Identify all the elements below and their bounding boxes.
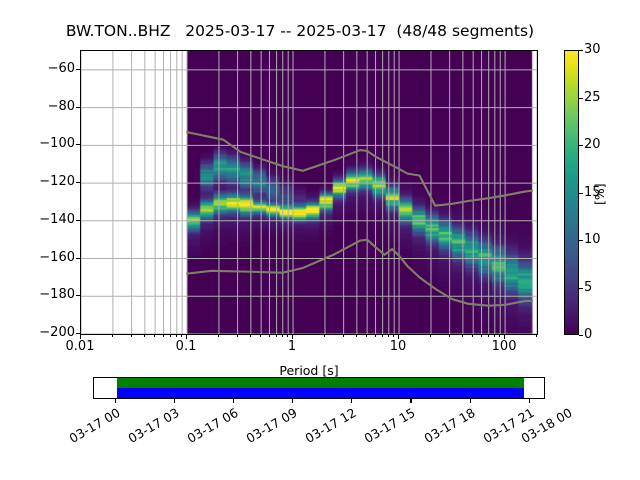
timeline-tick-mark	[470, 399, 471, 403]
x-tick-mark-minor	[343, 335, 344, 337]
timeline-tick-mark	[351, 399, 352, 403]
y-tick-mark	[76, 333, 80, 334]
colorbar-tick-mark	[579, 50, 583, 51]
x-tick-label: 0.01	[45, 339, 115, 354]
timeline-tick-mark	[410, 399, 411, 403]
colorbar-tick-label: 10	[584, 232, 601, 247]
x-tick-mark-minor	[472, 335, 473, 337]
timeline-tick-label: 03-17 12	[303, 405, 359, 446]
y-tick-mark	[76, 144, 80, 145]
timeline-bar-green	[117, 378, 524, 388]
x-tick-mark-minor	[366, 335, 367, 337]
x-tick-label: 10	[363, 339, 433, 354]
x-tick-mark-minor	[356, 335, 357, 337]
colorbar-tick-mark	[579, 98, 583, 99]
x-tick-mark-minor	[250, 335, 251, 337]
y-tick-mark	[76, 295, 80, 296]
x-tick-label: 0.1	[151, 339, 221, 354]
noise-model-curves	[81, 51, 537, 334]
timeline-tick-label: 03-17 03	[125, 405, 181, 446]
timeline-tick-mark	[115, 399, 116, 403]
colorbar-tick-label: 0	[584, 327, 592, 342]
colorbar-tick-mark	[579, 145, 583, 146]
x-tick-mark-minor	[494, 335, 495, 337]
x-tick-mark-minor	[269, 335, 270, 337]
y-tick-mark	[76, 220, 80, 221]
timeline-tick-mark	[529, 399, 530, 403]
x-tick-label: 100	[469, 339, 539, 354]
y-tick-mark	[76, 69, 80, 70]
y-tick-mark	[76, 182, 80, 183]
x-tick-mark-minor	[462, 335, 463, 337]
x-tick-mark-minor	[499, 335, 500, 337]
colorbar-tick-label: 25	[584, 90, 601, 105]
x-tick-mark-minor	[388, 335, 389, 337]
timeline-tick-mark	[174, 399, 175, 403]
y-tick-label: −80	[15, 99, 75, 114]
x-tick-mark-minor	[144, 335, 145, 337]
ppsd-figure: BW.TON..BHZ 2025-03-17 -- 2025-03-17 (48…	[0, 0, 640, 480]
x-tick-mark-minor	[536, 335, 537, 337]
timeline-tick-label: 03-17 18	[421, 405, 477, 446]
x-tick-mark-minor	[449, 335, 450, 337]
y-tick-label: −60	[15, 61, 75, 76]
x-tick-mark-minor	[260, 335, 261, 337]
x-tick-mark-minor	[282, 335, 283, 337]
x-tick-label: 1	[257, 339, 327, 354]
x-tick-mark-minor	[163, 335, 164, 337]
x-tick-mark-minor	[393, 335, 394, 337]
x-tick-mark-minor	[276, 335, 277, 337]
y-tick-label: −120	[15, 174, 75, 189]
colorbar[interactable]	[564, 50, 579, 335]
y-tick-label: −200	[15, 325, 75, 340]
timeline-tick-label: 03-17 09	[244, 405, 300, 446]
colorbar-tick-label: 20	[584, 137, 601, 152]
colorbar-label: [%]	[592, 183, 607, 205]
timeline-tick-mark	[233, 399, 234, 403]
plot-title: BW.TON..BHZ 2025-03-17 -- 2025-03-17 (48…	[0, 22, 600, 40]
y-tick-label: −100	[15, 136, 75, 151]
timeline-tick-mark	[292, 399, 293, 403]
colorbar-tick-mark	[579, 240, 583, 241]
x-tick-mark-minor	[181, 335, 182, 337]
timeline-tick-label: 03-17 06	[184, 405, 240, 446]
x-tick-mark-minor	[375, 335, 376, 337]
colorbar-tick-mark	[579, 335, 583, 336]
timeline-axes[interactable]	[93, 377, 545, 399]
colorbar-tick-mark	[579, 193, 583, 194]
timeline-tick-label: 03-17 00	[66, 405, 122, 446]
ppsd-axes[interactable]	[80, 50, 538, 335]
x-tick-mark-minor	[382, 335, 383, 337]
x-tick-mark-minor	[481, 335, 482, 337]
y-tick-mark	[76, 258, 80, 259]
colorbar-tick-label: 5	[584, 280, 592, 295]
colorbar-gradient	[565, 51, 578, 334]
x-axis-label: Period [s]	[80, 363, 538, 378]
x-tick-mark-minor	[430, 335, 431, 337]
y-tick-label: −180	[15, 287, 75, 302]
x-tick-mark-minor	[154, 335, 155, 337]
x-tick-mark-minor	[112, 335, 113, 337]
colorbar-tick-mark	[579, 288, 583, 289]
timeline-tick-label: 03-17 15	[362, 405, 418, 446]
x-tick-mark-minor	[488, 335, 489, 337]
x-tick-mark-minor	[218, 335, 219, 337]
x-tick-mark-minor	[324, 335, 325, 337]
x-tick-mark-minor	[131, 335, 132, 337]
y-tick-label: −160	[15, 250, 75, 265]
x-tick-mark-minor	[237, 335, 238, 337]
timeline-bar-blue	[117, 388, 524, 398]
y-tick-mark	[76, 107, 80, 108]
y-tick-label: −140	[15, 212, 75, 227]
x-tick-mark-minor	[287, 335, 288, 337]
x-tick-mark-minor	[170, 335, 171, 337]
x-tick-mark-minor	[176, 335, 177, 337]
colorbar-tick-label: 30	[584, 42, 601, 57]
